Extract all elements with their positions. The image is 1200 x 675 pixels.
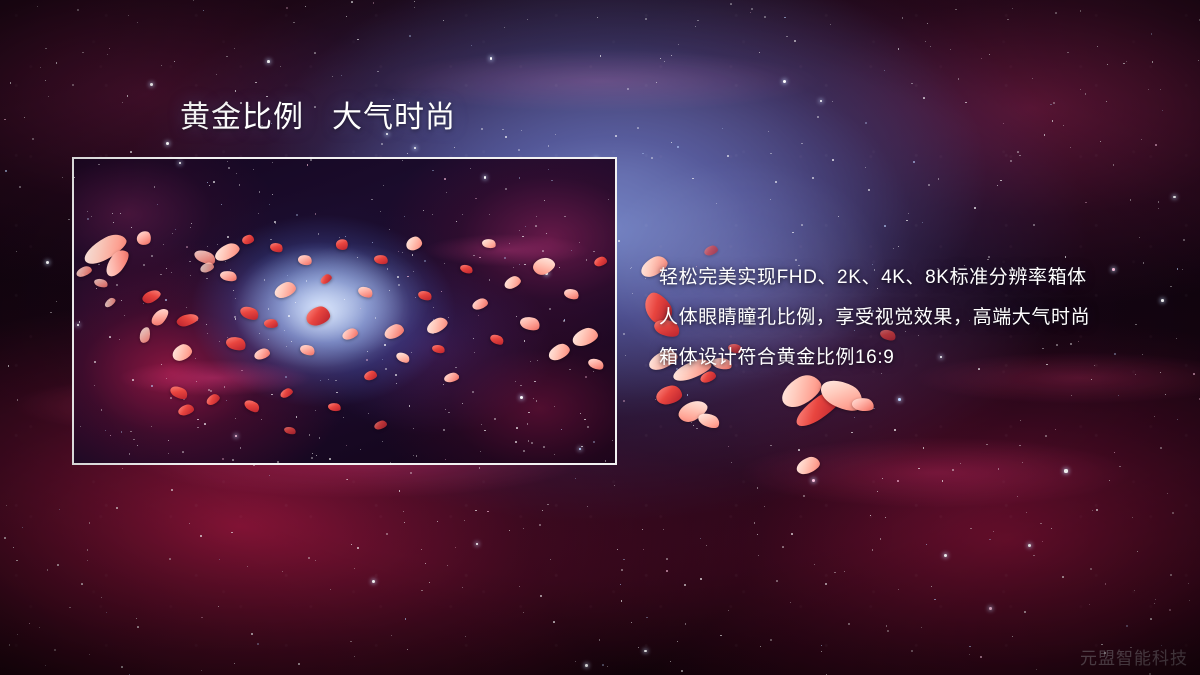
star [759, 52, 760, 53]
star [19, 186, 21, 188]
body-line-1: 轻松完美实现FHD、2K、4K、8K标准分辨率箱体 [659, 258, 1179, 298]
star [1090, 568, 1092, 570]
star [786, 36, 787, 37]
star [269, 475, 270, 476]
star [1080, 10, 1082, 12]
star [1139, 237, 1140, 238]
star [691, 422, 693, 424]
star [620, 584, 621, 585]
star [9, 644, 11, 646]
star [1118, 395, 1119, 396]
star [136, 618, 137, 619]
star [872, 549, 873, 550]
star [696, 428, 697, 429]
star [898, 48, 899, 49]
star [1080, 89, 1082, 91]
star [942, 480, 944, 482]
star [399, 490, 400, 491]
star [62, 177, 63, 178]
star [1123, 63, 1125, 65]
star [39, 627, 40, 628]
star [89, 654, 90, 655]
star [764, 16, 766, 18]
star [257, 643, 259, 645]
star [969, 646, 971, 648]
star [677, 146, 679, 148]
star [844, 571, 845, 572]
star [454, 147, 455, 148]
flower-petal [703, 244, 719, 257]
star [1106, 101, 1107, 102]
star [700, 578, 701, 579]
star [631, 267, 632, 268]
star [106, 612, 107, 613]
star [602, 664, 604, 666]
star [660, 58, 661, 59]
star [128, 15, 130, 17]
star [722, 128, 723, 129]
star [527, 19, 528, 20]
star [404, 522, 405, 523]
star [171, 489, 173, 491]
star [6, 505, 8, 507]
star [1026, 512, 1027, 513]
star [1007, 19, 1008, 20]
star [923, 97, 925, 99]
star [986, 444, 987, 445]
star [645, 18, 647, 20]
star [169, 558, 171, 560]
star [298, 663, 300, 665]
star [757, 534, 758, 535]
star [671, 142, 672, 143]
star [597, 17, 598, 18]
star [911, 650, 913, 652]
star [803, 495, 805, 497]
star [630, 268, 631, 269]
star [189, 523, 190, 524]
star [585, 664, 588, 667]
star [821, 645, 822, 646]
star [57, 564, 59, 566]
star [280, 66, 281, 67]
flower-petal [794, 454, 822, 476]
star [357, 547, 359, 549]
star [974, 207, 975, 208]
star [663, 529, 664, 530]
star [282, 571, 283, 572]
presentation-slide: 黄金比例 大气时尚 轻松完美实现FHD、2K、4K、8K标准分辨率箱体 人体眼睛… [0, 0, 1200, 675]
star [918, 468, 920, 470]
star [24, 117, 25, 118]
star [87, 549, 88, 550]
star [614, 485, 615, 486]
star [1036, 669, 1038, 671]
star [617, 549, 618, 550]
star [958, 78, 959, 79]
star [48, 96, 49, 97]
star [670, 661, 671, 662]
star [607, 666, 608, 667]
star [1177, 419, 1178, 420]
star [13, 547, 14, 548]
star [700, 410, 701, 411]
star [893, 248, 894, 249]
star [455, 547, 456, 548]
star [405, 618, 407, 620]
star [476, 543, 479, 546]
star [706, 414, 707, 415]
star [130, 151, 132, 153]
star [174, 61, 175, 62]
star [898, 589, 899, 590]
star [107, 54, 108, 55]
star [911, 83, 912, 84]
star [1012, 8, 1013, 9]
star [523, 528, 524, 529]
star [1010, 160, 1012, 162]
star [817, 116, 818, 117]
star [555, 134, 556, 135]
star [37, 6, 39, 8]
star [1155, 599, 1156, 600]
star [409, 35, 411, 37]
star [880, 538, 882, 540]
star [255, 82, 257, 84]
body-line-3: 箱体设计符合黄金比例16:9 [659, 338, 1179, 378]
flower-petal [791, 385, 847, 432]
star [894, 429, 895, 430]
star [758, 555, 759, 556]
star [87, 560, 88, 561]
star [599, 639, 601, 641]
star [1109, 480, 1110, 481]
star [518, 149, 520, 151]
star [615, 135, 617, 137]
star [926, 544, 928, 546]
star [1193, 373, 1195, 375]
star [794, 40, 796, 42]
inner-nebula-wisp [74, 159, 615, 463]
star [1017, 151, 1019, 153]
star [1033, 224, 1035, 226]
flower-petal [851, 396, 875, 413]
star [837, 400, 838, 401]
star [908, 213, 909, 214]
star [757, 487, 759, 489]
star [4, 537, 6, 539]
star [1091, 379, 1092, 380]
star [414, 7, 415, 8]
star [1119, 466, 1120, 467]
star [247, 566, 248, 567]
star [1028, 544, 1031, 547]
star [56, 301, 57, 302]
star [553, 621, 555, 623]
star [1020, 420, 1021, 421]
star [346, 479, 348, 481]
star [550, 559, 552, 561]
star [109, 48, 110, 49]
star [870, 515, 871, 516]
star [403, 511, 404, 512]
star [4, 119, 5, 120]
star [1022, 462, 1023, 463]
star [989, 539, 990, 540]
star [1158, 208, 1159, 209]
body-text-block: 轻松完美实现FHD、2K、4K、8K标准分辨率箱体 人体眼睛瞳孔比例，享受视觉效… [659, 258, 1179, 378]
star [414, 147, 416, 149]
star [1097, 46, 1098, 47]
star [1162, 110, 1163, 111]
star [1113, 164, 1115, 166]
star [646, 617, 647, 618]
star [1183, 239, 1185, 241]
star [542, 510, 543, 511]
star [716, 203, 717, 204]
star [906, 220, 907, 221]
star [770, 639, 772, 641]
star [621, 569, 623, 571]
star [873, 408, 875, 410]
star [539, 524, 541, 526]
star [481, 128, 482, 129]
star [1172, 512, 1174, 514]
star [1189, 600, 1190, 601]
star [45, 48, 47, 50]
star [332, 76, 333, 77]
star [851, 432, 853, 434]
star [22, 527, 23, 528]
star [150, 83, 153, 86]
star [1100, 141, 1101, 142]
star [927, 23, 928, 24]
framed-image-content [74, 159, 615, 463]
star [201, 617, 203, 619]
star [693, 425, 694, 426]
star [887, 630, 889, 632]
star [830, 24, 831, 25]
star [814, 564, 815, 565]
star [330, 589, 331, 590]
star [347, 479, 348, 480]
star [655, 399, 656, 400]
body-line-2: 人体眼睛瞳孔比例，享受视觉效果，高端大气时尚 [659, 298, 1179, 338]
star [1044, 134, 1045, 135]
star [1132, 517, 1133, 518]
star [720, 635, 722, 637]
star [750, 12, 751, 13]
star [77, 9, 79, 11]
star [1055, 12, 1057, 14]
star [1160, 89, 1162, 91]
star [1148, 89, 1149, 90]
star [685, 623, 687, 625]
star [834, 572, 835, 573]
star [1085, 202, 1087, 204]
star [865, 167, 866, 168]
star [1152, 61, 1153, 62]
star [10, 82, 12, 84]
star [684, 584, 686, 586]
star [267, 60, 270, 63]
star [1126, 625, 1127, 626]
star [116, 507, 118, 509]
star [1154, 416, 1156, 418]
star [122, 468, 123, 469]
star [731, 462, 732, 463]
star [305, 6, 306, 7]
star [697, 20, 699, 22]
star [587, 506, 588, 507]
star [950, 49, 951, 50]
star [89, 522, 91, 524]
star [251, 633, 252, 634]
star [656, 82, 657, 83]
star [1151, 33, 1153, 35]
star [965, 102, 967, 104]
star [1053, 102, 1055, 104]
star [216, 74, 218, 76]
star [421, 549, 422, 550]
star [16, 560, 18, 562]
star [687, 394, 688, 395]
star [443, 20, 444, 21]
star [623, 400, 625, 402]
star [127, 95, 129, 97]
star [354, 568, 355, 569]
star [921, 627, 922, 628]
star [465, 636, 466, 637]
star [993, 531, 994, 532]
star [479, 467, 481, 469]
star [166, 142, 169, 145]
star [1019, 155, 1020, 156]
star [1169, 609, 1171, 611]
star [575, 661, 576, 662]
star [931, 586, 933, 588]
star [56, 62, 57, 63]
star [17, 399, 18, 400]
star [638, 647, 640, 649]
star [645, 278, 646, 279]
star [832, 101, 833, 102]
star [882, 478, 883, 479]
star [969, 654, 970, 655]
star [798, 449, 800, 451]
star [1096, 509, 1097, 510]
star [730, 3, 732, 5]
star [429, 582, 430, 583]
star [1154, 603, 1155, 604]
star [1085, 93, 1087, 95]
star [351, 1, 353, 3]
star [812, 479, 815, 482]
star [1092, 510, 1094, 512]
star [923, 447, 924, 448]
star [447, 565, 448, 566]
star [760, 646, 762, 648]
star [1051, 528, 1053, 530]
star [677, 641, 678, 642]
star [801, 143, 803, 145]
star [952, 469, 953, 470]
star [1024, 611, 1026, 613]
star [137, 626, 139, 628]
star [234, 48, 235, 49]
star [54, 649, 56, 651]
star [727, 155, 729, 157]
star [475, 510, 477, 512]
star [728, 446, 729, 447]
star [1000, 180, 1002, 182]
star [407, 649, 408, 650]
star [1003, 123, 1004, 124]
star [989, 54, 990, 55]
star [776, 580, 778, 582]
star [377, 71, 379, 73]
star [490, 57, 493, 60]
star [854, 417, 855, 418]
star [1019, 445, 1020, 446]
star [681, 670, 683, 672]
star [471, 45, 472, 46]
star [790, 602, 791, 603]
star [266, 96, 268, 98]
star [1182, 269, 1183, 270]
star [161, 65, 162, 66]
star [1150, 618, 1152, 620]
star [381, 143, 383, 145]
star [1089, 604, 1090, 605]
star [997, 185, 998, 186]
star [644, 650, 647, 653]
star [122, 102, 123, 103]
star [521, 130, 522, 131]
star [642, 153, 644, 155]
star [410, 472, 412, 474]
star [575, 478, 576, 479]
star [791, 533, 793, 535]
star [1070, 147, 1071, 148]
star [548, 145, 550, 147]
star [8, 365, 9, 366]
star [821, 651, 822, 652]
star [373, 2, 374, 3]
star [692, 178, 694, 180]
star [695, 26, 696, 27]
star [664, 61, 665, 62]
star [944, 554, 947, 557]
star [970, 528, 971, 529]
star [625, 355, 626, 356]
star [754, 522, 756, 524]
star [45, 665, 46, 666]
star [1032, 78, 1033, 79]
star [487, 511, 489, 513]
star [1071, 395, 1073, 397]
flower-petal [655, 384, 684, 406]
star [502, 129, 503, 130]
star [632, 293, 633, 294]
star [226, 56, 227, 57]
star [1040, 523, 1042, 525]
star [201, 670, 203, 672]
star [775, 181, 777, 183]
star [886, 625, 887, 626]
star [838, 216, 839, 217]
star [231, 532, 233, 534]
